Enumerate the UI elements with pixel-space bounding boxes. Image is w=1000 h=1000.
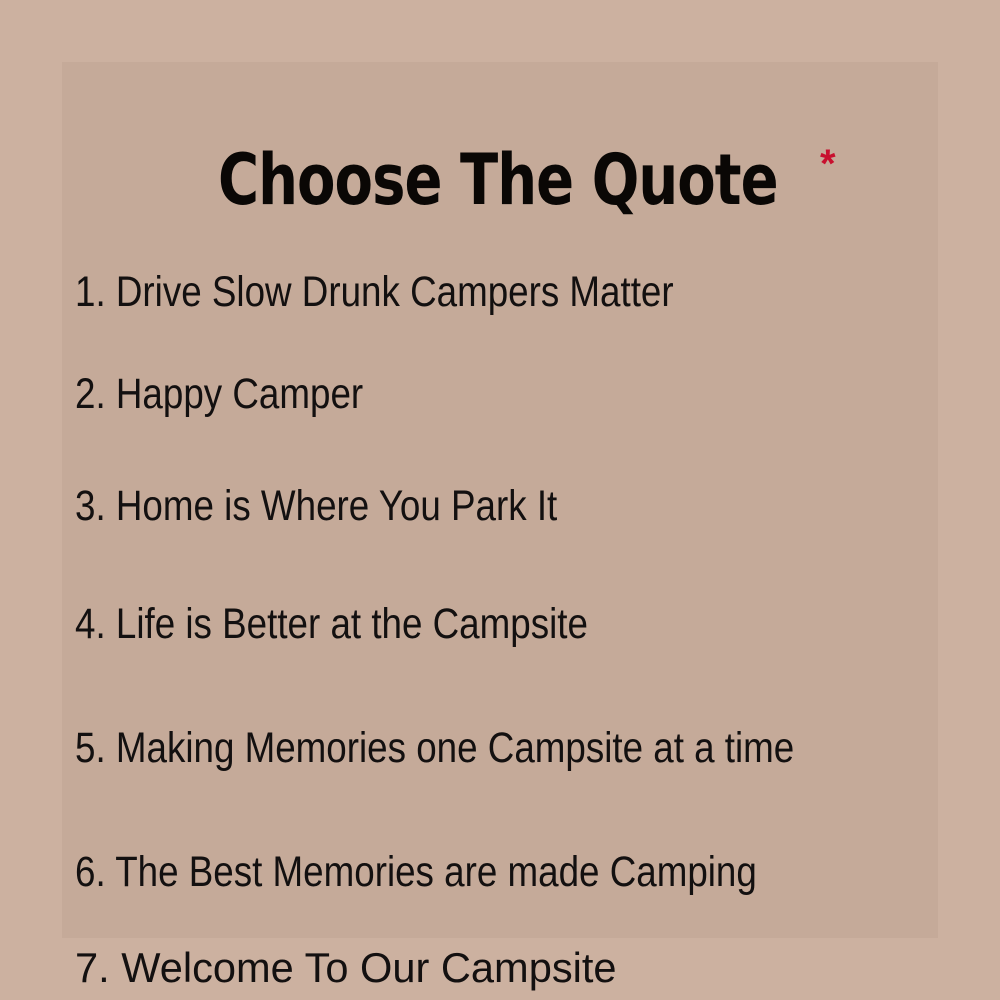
quote-option-6-number: 6.: [75, 848, 115, 896]
quote-option-2-label: Happy Camper: [116, 370, 363, 418]
required-asterisk-icon: *: [820, 144, 836, 184]
quote-options-list: 1. Drive Slow Drunk Campers Matter 2. Ha…: [75, 212, 938, 938]
quote-option-3-label: Home is Where You Park It: [116, 482, 557, 530]
quote-option-1-label: Drive Slow Drunk Campers Matter: [116, 268, 674, 316]
quote-option-7-label: Welcome To Our Campsite: [121, 944, 616, 991]
quote-option-5-label: Making Memories one Campsite at a time: [116, 724, 794, 772]
page-title-text: Choose The Quote: [218, 140, 778, 220]
quote-option-2[interactable]: 2. Happy Camper: [75, 370, 363, 418]
quote-option-1-number: 1.: [75, 268, 116, 316]
quote-option-7[interactable]: 7. Welcome To Our Campsite: [75, 944, 617, 992]
quote-option-5-number: 5.: [75, 724, 116, 772]
quote-option-2-number: 2.: [75, 370, 116, 418]
quote-selection-image: Choose The Quote * 1. Drive Slow Drunk C…: [0, 0, 1000, 1000]
quote-option-6-label: The Best Memories are made Camping: [115, 848, 757, 896]
quote-option-6[interactable]: 6. The Best Memories are made Camping: [75, 848, 757, 896]
quote-panel: Choose The Quote * 1. Drive Slow Drunk C…: [62, 62, 938, 938]
quote-option-5[interactable]: 5. Making Memories one Campsite at a tim…: [75, 724, 794, 772]
quote-option-3-number: 3.: [75, 482, 116, 530]
quote-option-7-number: 7.: [75, 944, 121, 991]
quote-option-3[interactable]: 3. Home is Where You Park It: [75, 482, 557, 530]
quote-option-4-label: Life is Better at the Campsite: [116, 600, 588, 648]
quote-option-1[interactable]: 1. Drive Slow Drunk Campers Matter: [75, 268, 674, 316]
quote-option-4[interactable]: 4. Life is Better at the Campsite: [75, 600, 588, 648]
quote-option-4-number: 4.: [75, 600, 116, 648]
